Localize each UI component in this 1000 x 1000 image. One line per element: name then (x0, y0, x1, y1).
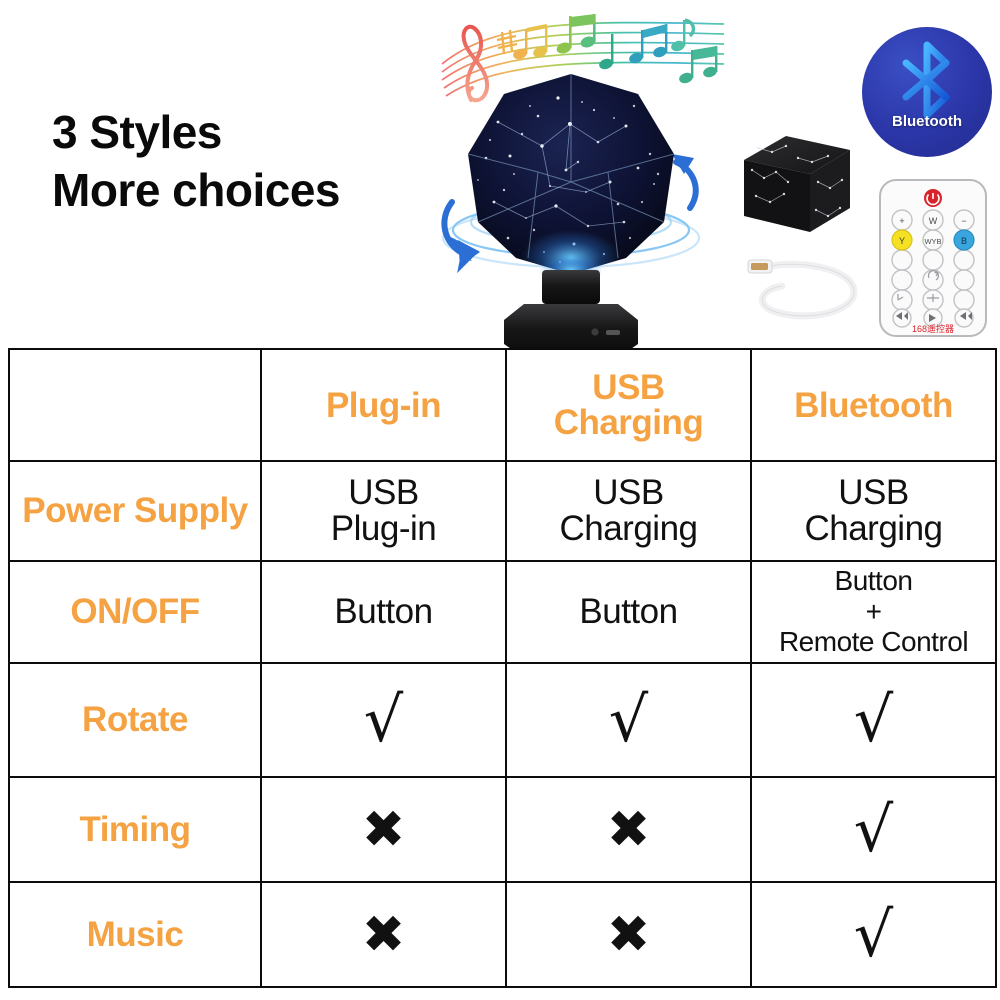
svg-text:−: − (961, 216, 966, 226)
table-row-rotate: Rotate √ √ √ (9, 663, 996, 777)
cell-onoff-bt-line3: Remote Control (756, 627, 991, 658)
svg-text:Y: Y (899, 236, 905, 246)
svg-text:WYB: WYB (924, 237, 941, 246)
check-icon: √ (854, 689, 894, 751)
infographic-root: 3 Styles More choices (0, 0, 1000, 1000)
svg-text:+: + (899, 216, 904, 226)
header-usb-line1: USB (511, 370, 746, 405)
cell-power-usb-line2: Charging (511, 511, 746, 547)
cell-onoff-bt-line1: Button (756, 566, 991, 597)
table-row-on-off: ON/OFF Button Button Button + Remote Con… (9, 561, 996, 663)
headline-line-2: More choices (52, 162, 452, 220)
cross-icon: ✖ (362, 804, 406, 856)
cross-icon: ✖ (607, 909, 651, 961)
cell-timing-plugin: ✖ (261, 777, 506, 882)
cell-music-bluetooth: √ (751, 882, 996, 987)
header-usb-line2: Charging (511, 405, 746, 440)
cell-power-usb: USB Charging (506, 461, 751, 561)
cell-power-plugin-line2: Plug-in (266, 511, 501, 547)
header-cell-bluetooth: Bluetooth (751, 349, 996, 461)
cross-icon: ✖ (362, 909, 406, 961)
cross-icon: ✖ (607, 804, 651, 856)
feature-label-power-supply: Power Supply (9, 461, 261, 561)
feature-power-line2: Supply (134, 491, 248, 530)
cell-onoff-plugin: Button (261, 561, 506, 663)
table-row-power-supply: Power Supply USB Plug-in USB Charging US… (9, 461, 996, 561)
headline: 3 Styles More choices (52, 104, 452, 219)
remote-control-icon: +W− Y WYB B 168遥控器 (874, 178, 992, 338)
feature-power-line1: Power (22, 491, 125, 530)
feature-onoff-text: ON/OFF (70, 592, 199, 631)
table-row-timing: Timing ✖ ✖ √ (9, 777, 996, 882)
bluetooth-badge: Bluetooth (862, 27, 992, 157)
star-projector-lamp-icon (438, 62, 704, 352)
cell-rotate-plugin: √ (261, 663, 506, 777)
feature-label-music: Music (9, 882, 261, 987)
cell-onoff-usb: Button (506, 561, 751, 663)
constellation-gift-box-icon (736, 130, 856, 240)
cell-onoff-bt-line2: + (756, 597, 991, 628)
bluetooth-icon (884, 39, 970, 121)
check-icon: √ (364, 689, 404, 751)
check-icon: √ (609, 689, 649, 751)
svg-text:W: W (929, 216, 938, 226)
feature-label-timing: Timing (9, 777, 261, 882)
cell-timing-bluetooth: √ (751, 777, 996, 882)
cell-onoff-usb-text: Button (579, 592, 677, 631)
feature-timing-text: Timing (79, 810, 190, 849)
check-icon: √ (854, 904, 894, 966)
hero-section: 3 Styles More choices (0, 0, 1000, 348)
cell-timing-usb: ✖ (506, 777, 751, 882)
header-plugin-label: Plug-in (326, 386, 441, 425)
check-icon: √ (854, 799, 894, 861)
table-header-row: Plug-in USB Charging Bluetooth (9, 349, 996, 461)
header-bluetooth-label: Bluetooth (794, 386, 953, 425)
cell-power-plugin-line1: USB (266, 475, 501, 511)
cell-music-plugin: ✖ (261, 882, 506, 987)
header-cell-plugin: Plug-in (261, 349, 506, 461)
cell-rotate-usb: √ (506, 663, 751, 777)
usb-charging-cable-icon (742, 250, 867, 330)
header-cell-empty (9, 349, 261, 461)
feature-label-on-off: ON/OFF (9, 561, 261, 663)
cell-power-bt-line2: Charging (756, 511, 991, 547)
cell-power-plugin: USB Plug-in (261, 461, 506, 561)
cell-music-usb: ✖ (506, 882, 751, 987)
cell-onoff-plugin-text: Button (334, 592, 432, 631)
svg-text:B: B (961, 236, 967, 246)
cell-power-bt-line1: USB (756, 475, 991, 511)
cell-power-bluetooth: USB Charging (751, 461, 996, 561)
feature-label-rotate: Rotate (9, 663, 261, 777)
cell-rotate-bluetooth: √ (751, 663, 996, 777)
headline-line-1: 3 Styles (52, 106, 222, 158)
cell-onoff-bluetooth: Button + Remote Control (751, 561, 996, 663)
table-row-music: Music ✖ ✖ √ (9, 882, 996, 987)
cell-power-usb-line1: USB (511, 475, 746, 511)
feature-rotate-text: Rotate (82, 700, 188, 739)
feature-music-text: Music (87, 915, 184, 954)
header-cell-usb-charging: USB Charging (506, 349, 751, 461)
remote-model-label: 168遥控器 (912, 323, 954, 334)
comparison-table: Plug-in USB Charging Bluetooth Power Sup… (8, 348, 997, 988)
bluetooth-badge-label: Bluetooth (862, 113, 992, 130)
